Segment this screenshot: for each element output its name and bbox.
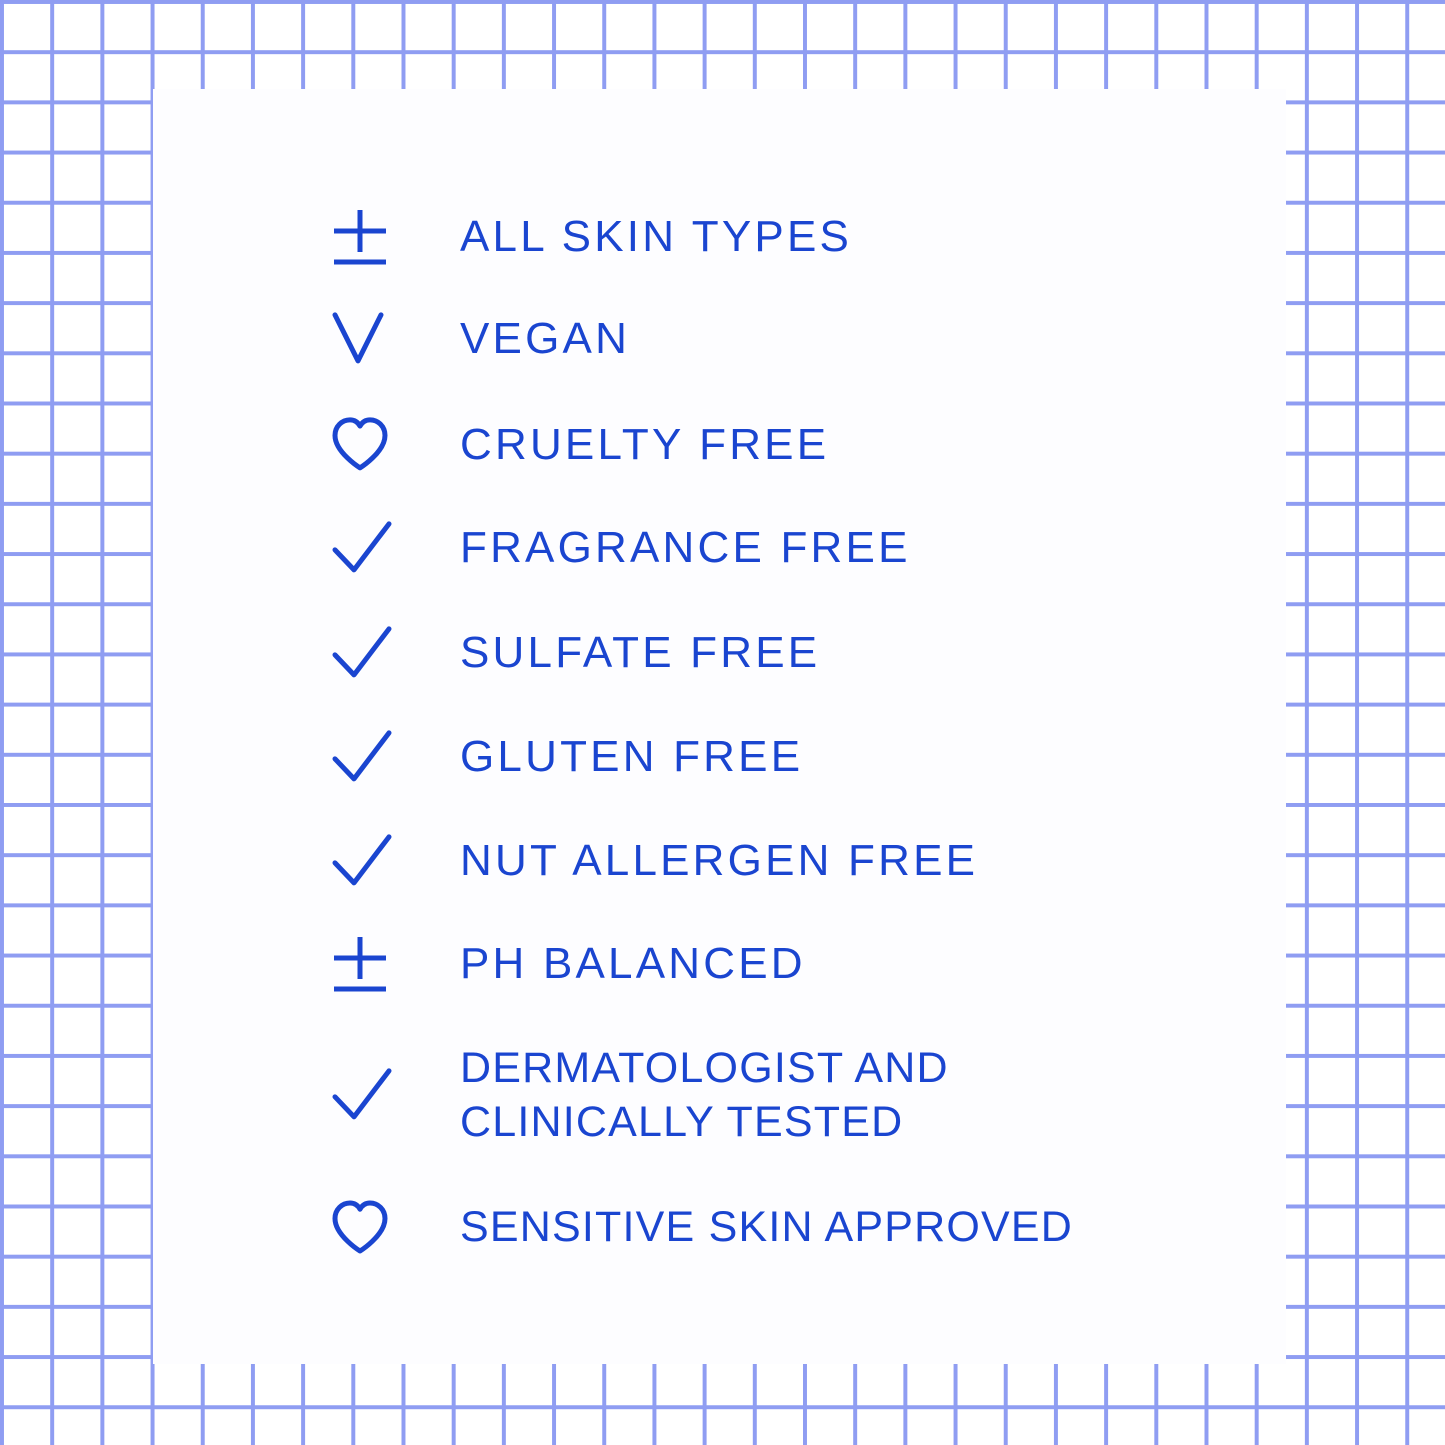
claim-row: NUT ALLERGEN FREE [332,833,978,889]
claim-row: CRUELTY FREE [332,417,829,473]
claim-label: VEGAN [460,311,630,367]
claim-row: FRAGRANCE FREE [332,520,911,576]
checkmark-icon [332,520,460,576]
claim-label: GLUTEN FREE [460,729,803,785]
checkmark-icon [332,729,460,785]
vegan-v-icon [332,311,460,367]
claims-card: ALL SKIN TYPESVEGANCRUELTY FREEFRAGRANCE… [153,89,1286,1364]
claim-label: ALL SKIN TYPES [460,209,852,265]
claim-label: PH BALANCED [460,936,806,992]
claim-row: SENSITIVE SKIN APPROVED [332,1200,1073,1256]
claim-row: DERMATOLOGIST AND CLINICALLY TESTED [332,1041,949,1149]
claim-label: CRUELTY FREE [460,417,829,473]
claim-row: VEGAN [332,311,630,367]
claim-row: SULFATE FREE [332,625,820,681]
claim-label: DERMATOLOGIST AND CLINICALLY TESTED [460,1041,949,1149]
claim-label: SULFATE FREE [460,625,820,681]
heart-icon [332,1200,460,1256]
plus-minus-icon [332,208,460,266]
graph-paper-background: ALL SKIN TYPESVEGANCRUELTY FREEFRAGRANCE… [0,0,1445,1445]
claim-row: GLUTEN FREE [332,729,803,785]
claims-list: ALL SKIN TYPESVEGANCRUELTY FREEFRAGRANCE… [153,89,1286,1364]
checkmark-icon [332,833,460,889]
claim-row: PH BALANCED [332,935,806,993]
claim-label: FRAGRANCE FREE [460,520,911,576]
claim-label: NUT ALLERGEN FREE [460,833,978,889]
heart-icon [332,417,460,473]
plus-minus-icon [332,935,460,993]
claim-label: SENSITIVE SKIN APPROVED [460,1200,1073,1255]
checkmark-icon [332,625,460,681]
checkmark-icon [332,1067,460,1123]
claim-row: ALL SKIN TYPES [332,208,852,266]
